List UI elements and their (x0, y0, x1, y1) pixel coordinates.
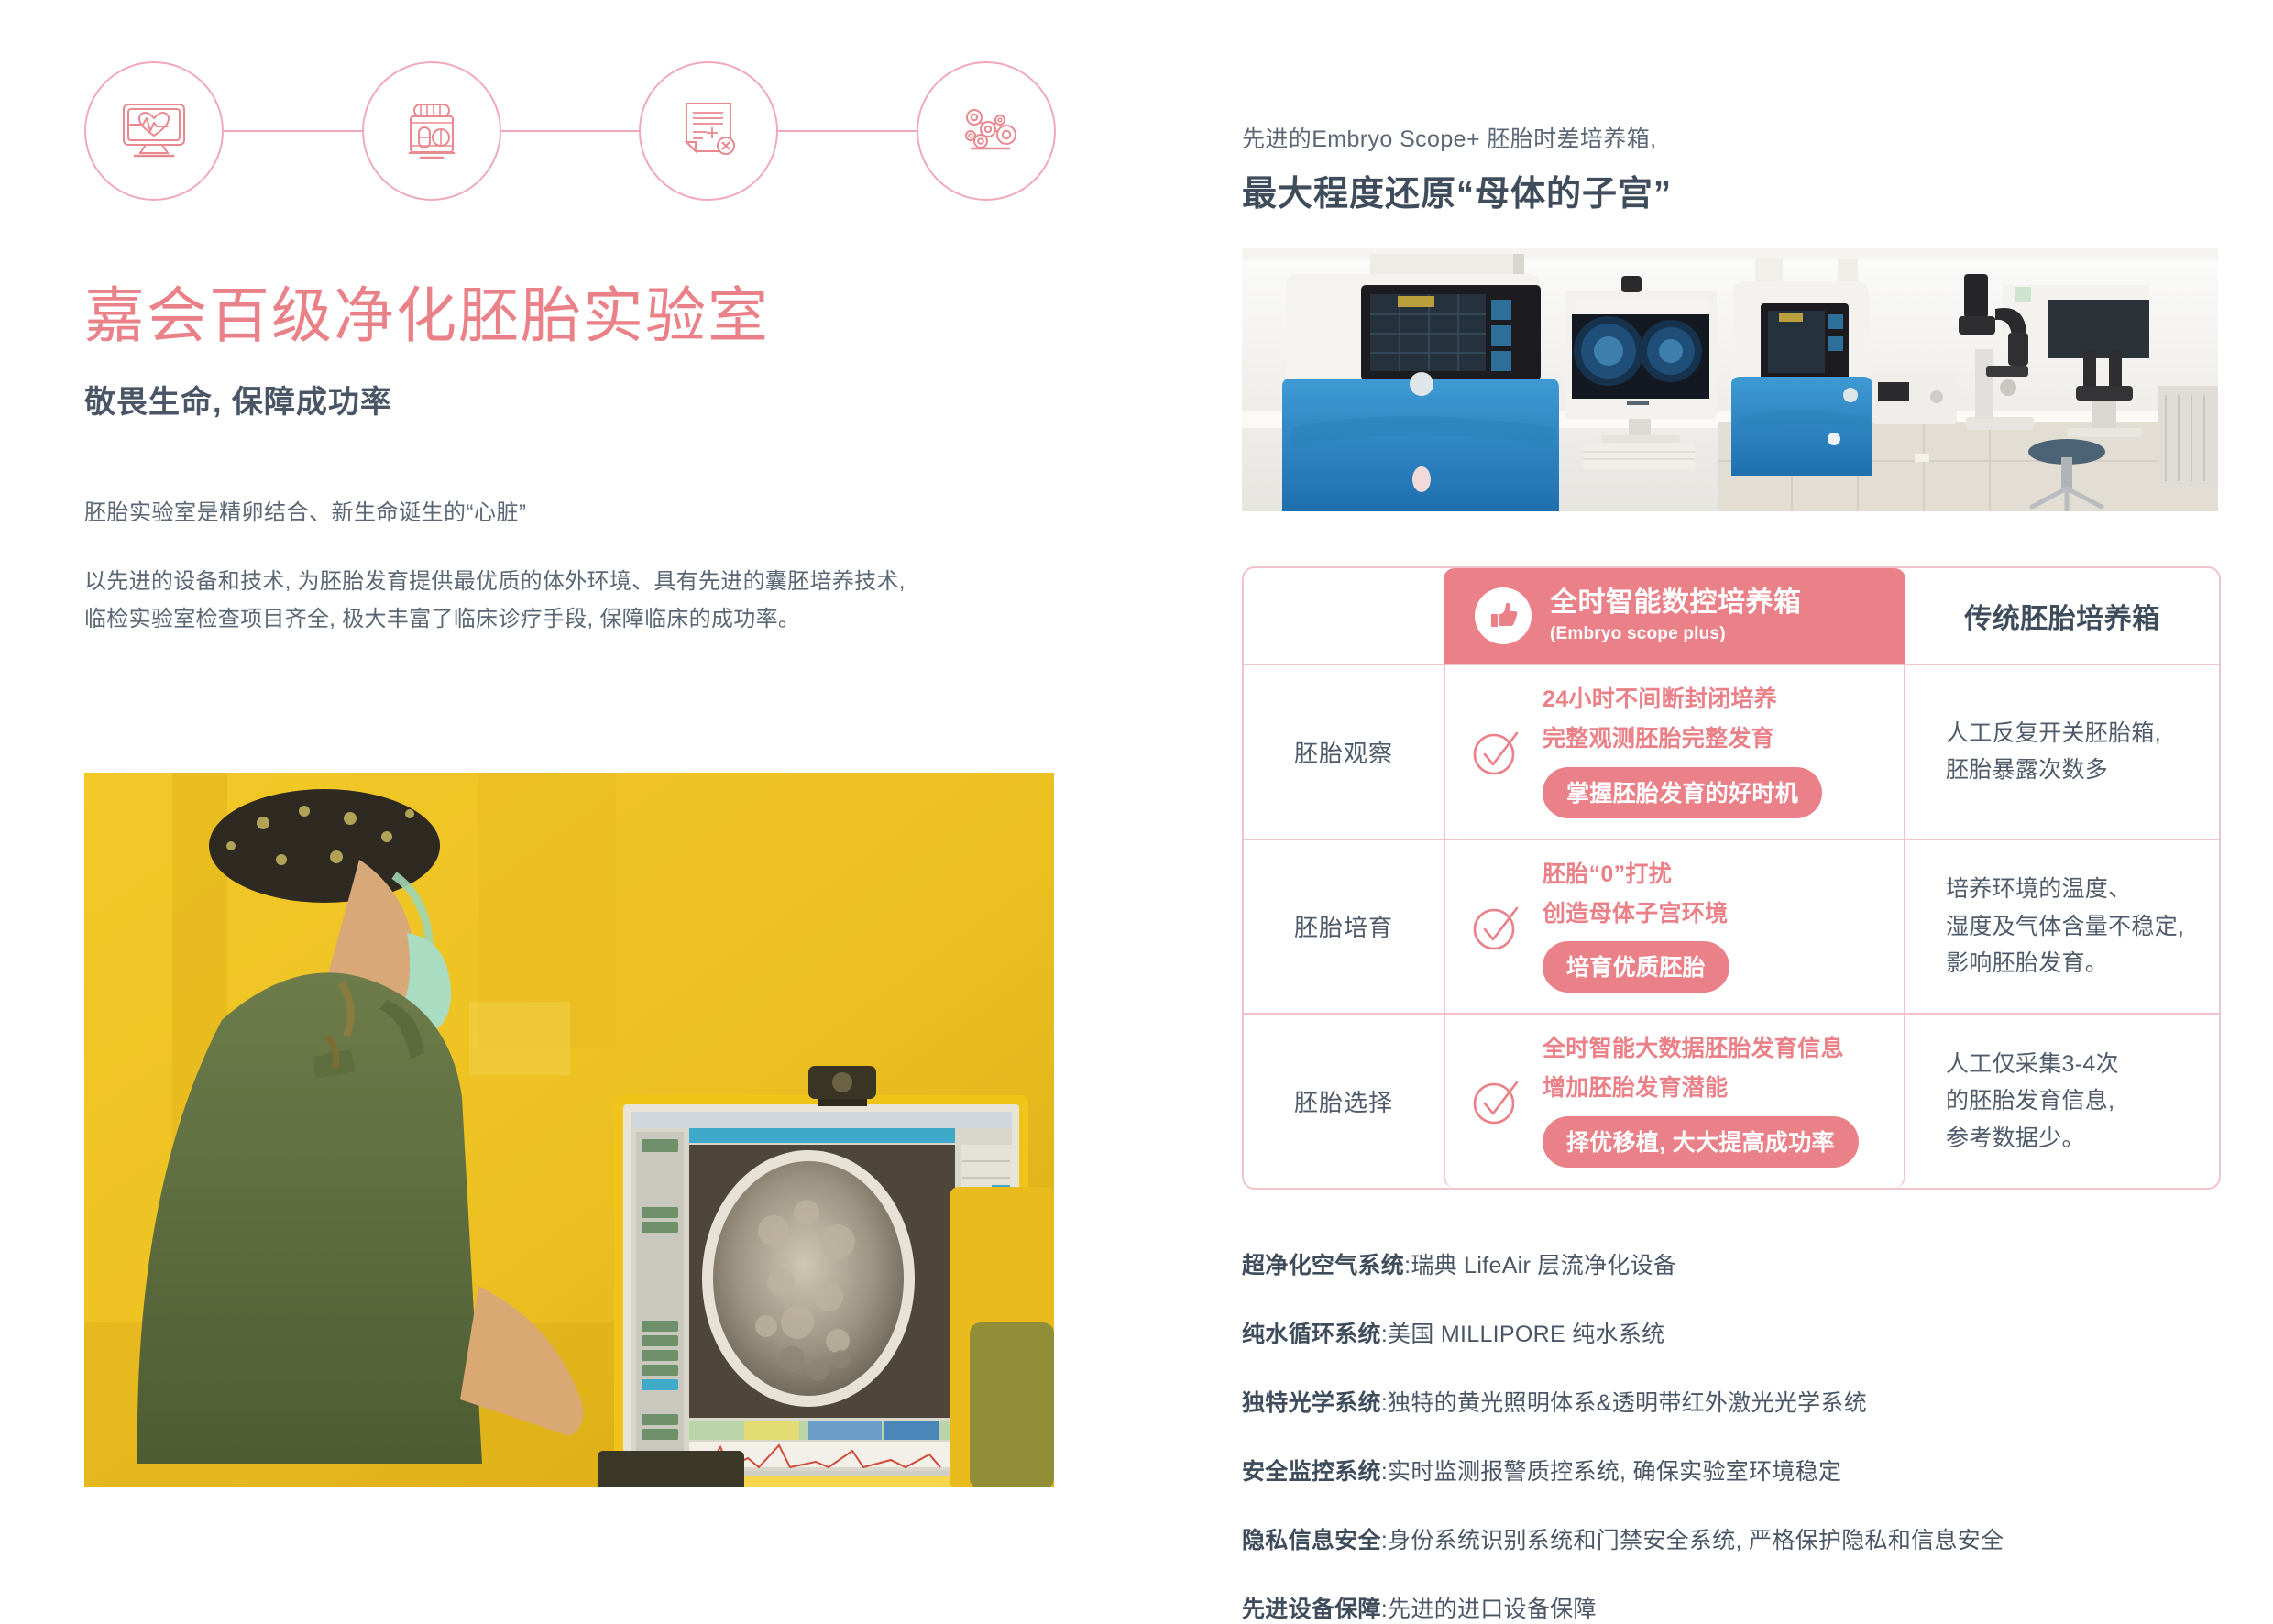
row-category: 胚胎观察 (1244, 665, 1444, 839)
list-item: 隐私信息安全:身份系统识别系统和门禁安全系统, 严格保护隐私和信息安全 (1242, 1525, 2223, 1557)
table-row: 胚胎培育 胚胎“0”打扰 创造母体子宫环境 培育优质胚胎 培养环境的温度、 湿度… (1244, 839, 2219, 1014)
row-advantages: 全时智能大数据胚胎发育信息 增加胚胎发育潜能 择优移植, 大大提高成功率 (1543, 1035, 1859, 1168)
left-column: 嘉会百级净化胚胎实验室 敬畏生命, 保障成功率 胚胎实验室是精卵结合、新生命诞生… (84, 55, 1056, 638)
check-circle-icon (1469, 898, 1526, 955)
traditional-line: 影响胚胎发育。 (1946, 945, 2197, 982)
row-advantages: 24小时不间断封闭培养 完整观测胚胎完整发育 掌握胚胎发育的好时机 (1543, 686, 1822, 818)
comparison-table-header: 全时智能数控培养箱 (Embryo scope plus) 传统胚胎培养箱 (1244, 568, 2219, 664)
body-paragraph: 以先进的设备和技术, 为胚胎发育提供最优质的体外环境、具有先进的囊胚培养技术, … (84, 563, 1056, 639)
traditional-line: 胚胎暴露次数多 (1946, 752, 2197, 789)
advantage-line: 增加胚胎发育潜能 (1543, 1074, 1728, 1103)
lead-paragraph: 胚胎实验室是精卵结合、新生命诞生的“心脏” (84, 497, 1056, 530)
header-cell-category (1244, 568, 1444, 664)
icon-bubble-molecule-network (917, 61, 1056, 201)
feature-value: :先进的进口设备保障 (1381, 1597, 1597, 1622)
advantage-line: 胚胎“0”打扰 (1543, 861, 1672, 889)
row-traditional-cell: 人工仅采集3-4次 的胚胎发育信息, 参考数据少。 (1905, 1015, 2219, 1188)
right-eyebrow: 先进的Embryo Scope+ 胚胎时差培养箱, (1242, 121, 2223, 154)
row-traditional-cell: 培养环境的温度、 湿度及气体含量不稳定, 影响胚胎发育。 (1905, 840, 2219, 1014)
feature-value: :美国 MILLIPORE 纯水系统 (1381, 1322, 1665, 1347)
molecule-network-icon (947, 92, 1026, 170)
traditional-line: 人工反复开关胚胎箱, (1946, 715, 2197, 752)
thumbs-up-icon (1475, 587, 1532, 644)
feature-value: :身份系统识别系统和门禁安全系统, 严格保护隐私和信息安全 (1381, 1528, 2004, 1553)
traditional-line: 人工仅采集3-4次 (1946, 1046, 2197, 1083)
row-embryoscope-cell: 24小时不间断封闭培养 完整观测胚胎完整发育 掌握胚胎发育的好时机 (1444, 665, 1905, 839)
traditional-line: 参考数据少。 (1946, 1120, 2197, 1158)
feature-value: :实时监测报警质控系统, 确保实验室环境稳定 (1381, 1459, 1841, 1485)
table-row: 胚胎选择 全时智能大数据胚胎发育信息 增加胚胎发育潜能 择优移植, 大大提高成功… (1244, 1013, 2219, 1188)
page-subtitle: 敬畏生命, 保障成功率 (84, 384, 1056, 422)
row-category: 胚胎培育 (1244, 840, 1444, 1014)
list-item: 安全监控系统:实时监测报警质控系统, 确保实验室环境稳定 (1242, 1456, 2223, 1488)
row-category: 胚胎选择 (1244, 1015, 1444, 1188)
page-title: 嘉会百级净化胚胎实验室 (84, 281, 1056, 351)
pill-bottle-icon (392, 92, 471, 170)
header-traditional-title: 传统胚胎培养箱 (1964, 596, 2160, 636)
list-item: 独特光学系统:独特的黄光照明体系&透明带红外激光光学系统 (1242, 1388, 2223, 1420)
brochure-page: 嘉会百级净化胚胎实验室 敬畏生命, 保障成功率 胚胎实验室是精卵结合、新生命诞生… (0, 0, 2273, 1624)
heart-monitor-icon (115, 92, 193, 170)
icon-strip (84, 55, 1056, 206)
traditional-line: 湿度及气体含量不稳定, (1946, 908, 2197, 946)
advantage-pill: 培育优质胚胎 (1543, 941, 1729, 993)
right-column: 先进的Embryo Scope+ 胚胎时差培养箱, 最大程度还原“母体的子宫” (1242, 0, 2223, 1624)
list-item: 先进设备保障:先进的进口设备保障 (1242, 1594, 2223, 1624)
right-headline: 最大程度还原“母体的子宫” (1242, 165, 2223, 215)
feature-key: 安全监控系统 (1242, 1459, 1381, 1485)
feature-key: 隐私信息安全 (1242, 1528, 1381, 1553)
icon-bubble-heart-monitor (84, 61, 224, 201)
header-embryoscope-text: 全时智能数控培养箱 (Embryo scope plus) (1550, 587, 1802, 644)
feature-key: 先进设备保障 (1242, 1597, 1381, 1622)
advantage-line: 完整观测胚胎完整发育 (1543, 725, 1774, 753)
photo-left-artwork (84, 773, 1054, 1487)
advantage-line: 全时智能大数据胚胎发育信息 (1543, 1035, 1844, 1063)
advantage-pill: 择优移植, 大大提高成功率 (1543, 1116, 1859, 1168)
feature-list: 超净化空气系统:瑞典 LifeAir 层流净化设备 纯水循环系统:美国 MILL… (1242, 1250, 2223, 1624)
body-line-2: 临检实验室检查项目齐全, 极大丰富了临床诊疗手段, 保障临床的成功率。 (84, 600, 1056, 638)
advantage-pill: 掌握胚胎发育的好时机 (1543, 767, 1822, 818)
icon-bubble-pill-bottle (362, 61, 501, 201)
advantage-line: 创造母体子宫环境 (1543, 900, 1728, 928)
header-embryoscope-title: 全时智能数控培养箱 (1550, 587, 1802, 620)
feature-key: 独特光学系统 (1242, 1390, 1381, 1416)
traditional-line: 的胚胎发育信息, (1946, 1082, 2197, 1120)
body-line-1: 以先进的设备和技术, 为胚胎发育提供最优质的体外环境、具有先进的囊胚培养技术, (84, 563, 1056, 600)
icon-connector-1 (224, 130, 362, 132)
check-circle-icon (1469, 1072, 1526, 1129)
icon-bubble-document-report (639, 61, 778, 201)
table-row: 胚胎观察 24小时不间断封闭培养 完整观测胚胎完整发育 掌握胚胎发育的好时机 人… (1244, 664, 2219, 839)
feature-key: 纯水循环系统 (1242, 1322, 1381, 1347)
header-cell-traditional: 传统胚胎培养箱 (1905, 568, 2219, 664)
icon-connector-2 (501, 130, 640, 132)
row-traditional-cell: 人工反复开关胚胎箱, 胚胎暴露次数多 (1905, 665, 2219, 839)
header-cell-embryoscope: 全时智能数控培养箱 (Embryo scope plus) (1444, 568, 1905, 664)
list-item: 纯水循环系统:美国 MILLIPORE 纯水系统 (1242, 1319, 2223, 1351)
icon-connector-3 (778, 130, 917, 132)
photo-embryologist-workstation (84, 773, 1054, 1487)
list-item: 超净化空气系统:瑞典 LifeAir 层流净化设备 (1242, 1250, 2223, 1282)
feature-key: 超净化空气系统 (1242, 1253, 1404, 1278)
traditional-line: 培养环境的温度、 (1946, 871, 2197, 908)
document-report-icon (669, 92, 748, 170)
row-embryoscope-cell: 胚胎“0”打扰 创造母体子宫环境 培育优质胚胎 (1444, 840, 1905, 1014)
advantage-line: 24小时不间断封闭培养 (1543, 686, 1777, 714)
check-circle-icon (1469, 723, 1526, 780)
row-advantages: 胚胎“0”打扰 创造母体子宫环境 培育优质胚胎 (1543, 861, 1729, 993)
comparison-table: 全时智能数控培养箱 (Embryo scope plus) 传统胚胎培养箱 胚胎… (1242, 566, 2221, 1190)
feature-value: :瑞典 LifeAir 层流净化设备 (1404, 1253, 1676, 1278)
photo-right-artwork (1242, 248, 2218, 511)
photo-embryoscope-lab (1242, 248, 2218, 511)
row-embryoscope-cell: 全时智能大数据胚胎发育信息 增加胚胎发育潜能 择优移植, 大大提高成功率 (1444, 1015, 1905, 1188)
feature-value: :独特的黄光照明体系&透明带红外激光光学系统 (1381, 1390, 1867, 1416)
header-embryoscope-subtitle: (Embryo scope plus) (1550, 624, 1802, 644)
